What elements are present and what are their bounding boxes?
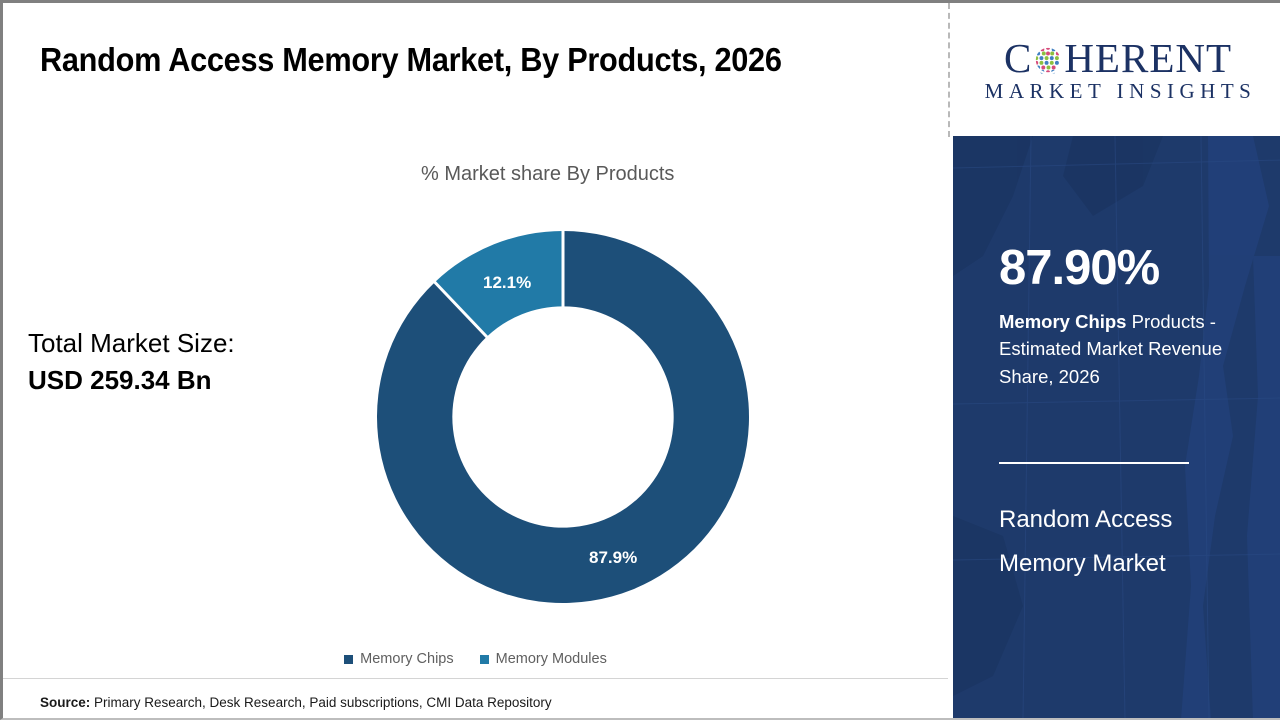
panel-market-name: Random Access Memory Market (999, 498, 1249, 587)
left-content-pane: Random Access Memory Market, By Products… (3, 3, 948, 720)
slice-label-memory-chips: 87.9% (589, 548, 637, 568)
legend-item[interactable]: Memory Chips (344, 651, 453, 667)
globe-icon (1033, 45, 1063, 75)
logo-tagline: MARKET INSIGHTS (980, 81, 1257, 102)
logo-wordmark: C (1004, 37, 1232, 79)
total-market-size-label: Total Market Size: (28, 325, 235, 362)
chart-legend: Memory ChipsMemory Modules (3, 651, 948, 667)
footer-divider (3, 678, 948, 679)
slice-label-memory-modules: 12.1% (483, 273, 531, 293)
stat-percentage: 87.90% (999, 244, 1159, 293)
donut-chart-svg (376, 230, 750, 604)
infographic-root: Random Access Memory Market, By Products… (0, 0, 1280, 720)
stat-description: Memory Chips Products - Estimated Market… (999, 308, 1257, 390)
total-market-size-block: Total Market Size: USD 259.34 Bn (28, 325, 235, 399)
brand-logo[interactable]: C (953, 3, 1280, 136)
legend-label: Memory Chips (360, 651, 453, 667)
legend-swatch-icon (344, 655, 353, 664)
legend-item[interactable]: Memory Modules (480, 651, 607, 667)
donut-chart: 12.1% 87.9% (376, 230, 750, 604)
stat-description-highlight: Memory Chips (999, 311, 1126, 332)
legend-label: Memory Modules (496, 651, 607, 667)
source-line: Source: Primary Research, Desk Research,… (40, 695, 552, 710)
vertical-dashed-divider (948, 3, 950, 137)
chart-subtitle: % Market share By Products (421, 163, 674, 186)
total-market-size-value: USD 259.34 Bn (28, 362, 235, 399)
panel-divider (999, 462, 1189, 464)
stat-panel: 87.90% Memory Chips Products - Estimated… (953, 136, 1280, 720)
logo-letter-c: C (1004, 38, 1032, 79)
page-title: Random Access Memory Market, By Products… (40, 35, 821, 85)
source-label: Source: (40, 695, 90, 710)
stat-panel-content: 87.90% Memory Chips Products - Estimated… (999, 136, 1259, 720)
right-rail: C (953, 3, 1280, 720)
logo-letters-herent: HERENT (1064, 38, 1232, 79)
source-text: Primary Research, Desk Research, Paid su… (90, 695, 551, 710)
legend-swatch-icon (480, 655, 489, 664)
